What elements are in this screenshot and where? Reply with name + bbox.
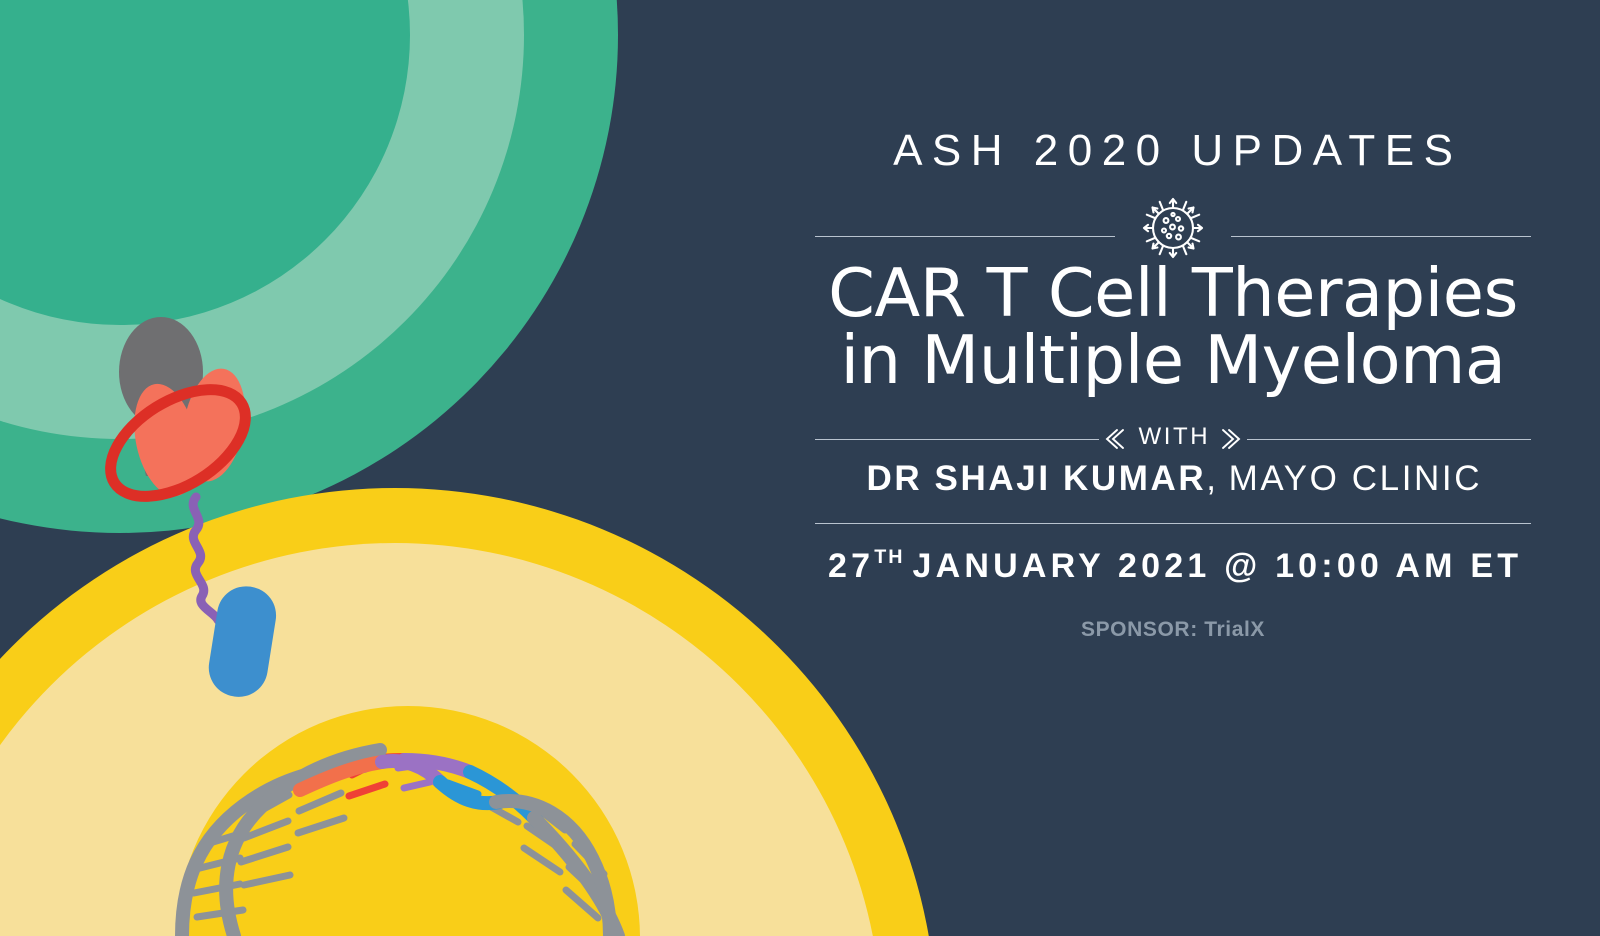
with-label: WITH [1136,423,1210,451]
sponsor-line: SPONSOR: TrialX [815,618,1531,642]
double-chevron-right-icon [1221,426,1247,452]
with-divider-line-right [1247,439,1531,440]
divider-line-right [1231,236,1531,237]
with-divider-line-left [815,439,1099,440]
divider-with-label: WITH [815,419,1531,453]
webinar-poster: ASH 2020 UPDATES [0,0,1600,936]
eyebrow-heading: ASH 2020 UPDATES [815,128,1531,174]
divider-below-speaker [815,523,1531,524]
event-day-ordinal: TH [874,546,904,568]
poster-text-panel: ASH 2020 UPDATES [815,128,1531,642]
event-datetime-rest: JANUARY 2021 @ 10:00 AM ET [912,547,1522,585]
speaker-separator: , [1206,459,1218,498]
speaker-affiliation: MAYO CLINIC [1229,459,1483,498]
page-title-line-1: CAR T Cell Therapies [815,260,1531,326]
divider-with-virus-icon [815,192,1531,258]
event-day: 27 [828,547,874,585]
speaker-name: DR SHAJI KUMAR [866,459,1206,498]
double-chevron-left-icon [1099,426,1125,452]
divider-line-left [815,236,1115,237]
page-title: CAR T Cell Therapies in Multiple Myeloma [815,260,1531,393]
page-title-line-2: in Multiple Myeloma [815,327,1531,393]
virus-icon [1137,192,1209,264]
speaker-line: DR SHAJI KUMAR,MAYO CLINIC [815,459,1531,499]
event-datetime: 27THJANUARY 2021 @ 10:00 AM ET [815,546,1531,586]
